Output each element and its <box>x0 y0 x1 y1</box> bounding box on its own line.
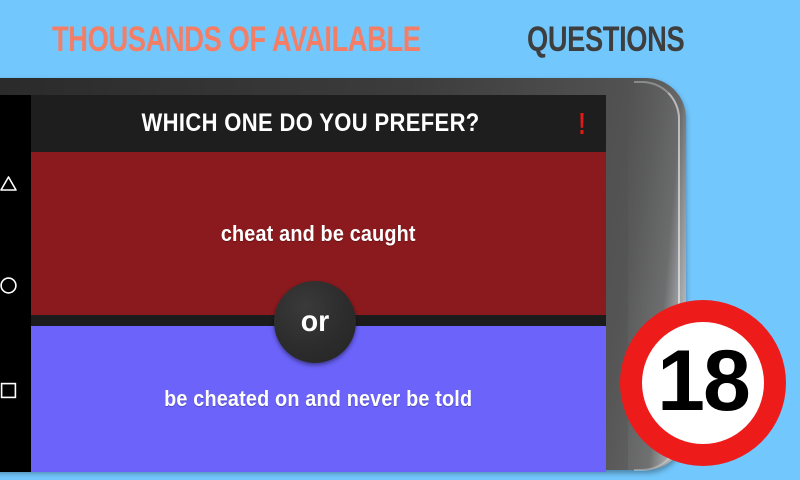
or-divider-label: or <box>301 307 330 337</box>
promo-headline-rest: QUESTIONS <box>527 22 684 57</box>
age-badge-value: 18 <box>657 338 749 424</box>
app-content: WHICH ONE DO YOU PREFER? ! cheat and be … <box>31 95 606 472</box>
triangle-back-icon[interactable] <box>0 173 19 194</box>
phone-device-mockup: WHICH ONE DO YOU PREFER? ! cheat and be … <box>0 78 686 470</box>
device-screen: WHICH ONE DO YOU PREFER? ! cheat and be … <box>0 95 606 472</box>
or-divider-badge: or <box>274 281 356 363</box>
app-store-promo-screenshot: THOUSANDS OF AVAILABLE QUESTIONS <box>0 0 800 480</box>
circle-home-icon[interactable] <box>0 275 19 296</box>
answer-option-top-label: cheat and be caught <box>221 221 416 247</box>
square-recents-icon[interactable] <box>0 380 19 401</box>
age-restriction-18-icon: 18 <box>620 300 786 466</box>
age-badge-inner-disc: 18 <box>642 322 764 444</box>
exclamation-report-icon[interactable]: ! <box>574 107 589 141</box>
answer-option-bottom-label: be cheated on and never be told <box>164 386 472 412</box>
app-bar-title: WHICH ONE DO YOU PREFER? <box>66 95 572 152</box>
android-navigation-bar <box>0 95 31 472</box>
app-bar: WHICH ONE DO YOU PREFER? ! <box>31 95 606 152</box>
promo-headline: THOUSANDS OF AVAILABLE QUESTIONS <box>52 16 728 62</box>
promo-headline-accent: THOUSANDS OF AVAILABLE <box>52 22 421 57</box>
